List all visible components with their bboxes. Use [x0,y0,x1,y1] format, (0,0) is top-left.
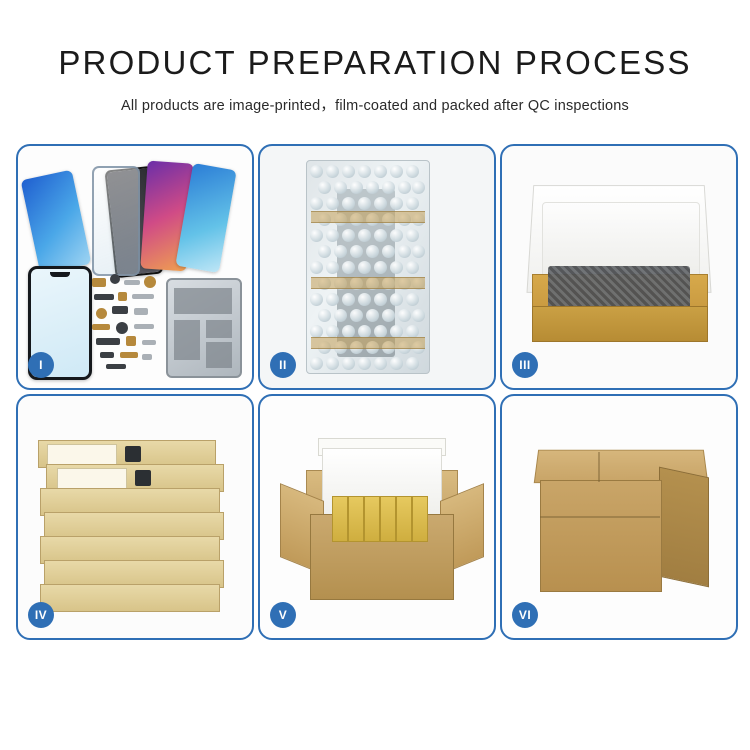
box-label-1 [47,444,117,466]
gold-pack-1 [332,496,348,542]
gold-pack-3 [364,496,380,542]
step-2-illustration [260,146,494,388]
gold-pack-4 [380,496,396,542]
gold-pack-6 [412,496,428,542]
process-step-5: V [254,390,496,640]
step-badge-5: V [270,602,296,628]
step-badge-3: III [512,352,538,378]
step-6-illustration [502,396,736,638]
box-screen-graphic-2 [135,470,151,486]
box-front-icon [532,306,708,342]
phone-teardown-icon [166,278,242,378]
step-3-illustration [502,146,736,388]
carton-side-icon [659,467,709,588]
step-badge-2: II [270,352,296,378]
tape-strip-middle [311,277,425,289]
gold-pack-2 [348,496,364,542]
carton-seam-front [540,516,660,518]
gold-pack-5 [396,496,412,542]
step-2-panel: II [258,144,496,390]
process-step-6: VI [496,390,738,640]
grey-foam-insert-icon [548,266,690,310]
process-step-1: I [12,140,254,390]
process-step-4: IV [12,390,254,640]
process-step-3: III [496,140,738,390]
tape-strip-bottom [311,337,425,349]
step-5-panel: V [258,394,496,640]
step-badge-4: IV [28,602,54,628]
page-subtitle: All products are image-printed，film-coat… [0,82,750,115]
box-label-2 [57,468,127,490]
tape-strip-top [311,211,425,223]
bubble-wrap-bag-icon [306,160,430,374]
step-badge-6: VI [512,602,538,628]
box-screen-graphic-1 [125,446,141,462]
screen-protector-icon [92,166,140,276]
retail-box-7 [40,584,220,612]
page-title: PRODUCT PREPARATION PROCESS [0,0,750,82]
process-step-2: II [254,140,496,390]
spare-parts-cluster-icon [90,272,168,376]
step-1-panel: I [16,144,254,390]
process-step-grid: I [12,140,738,640]
step-5-illustration [260,396,494,638]
step-1-illustration [18,146,252,388]
step-4-panel: IV [16,394,254,640]
step-3-panel: III [500,144,738,390]
phone-blue-icon [21,170,92,275]
carton-front-icon [540,480,662,592]
step-badge-1: I [28,352,54,378]
step-6-panel: VI [500,394,738,640]
carton-seam-top [598,452,600,482]
step-4-illustration [18,396,252,638]
product-preparation-page: PRODUCT PREPARATION PROCESS All products… [0,0,750,750]
